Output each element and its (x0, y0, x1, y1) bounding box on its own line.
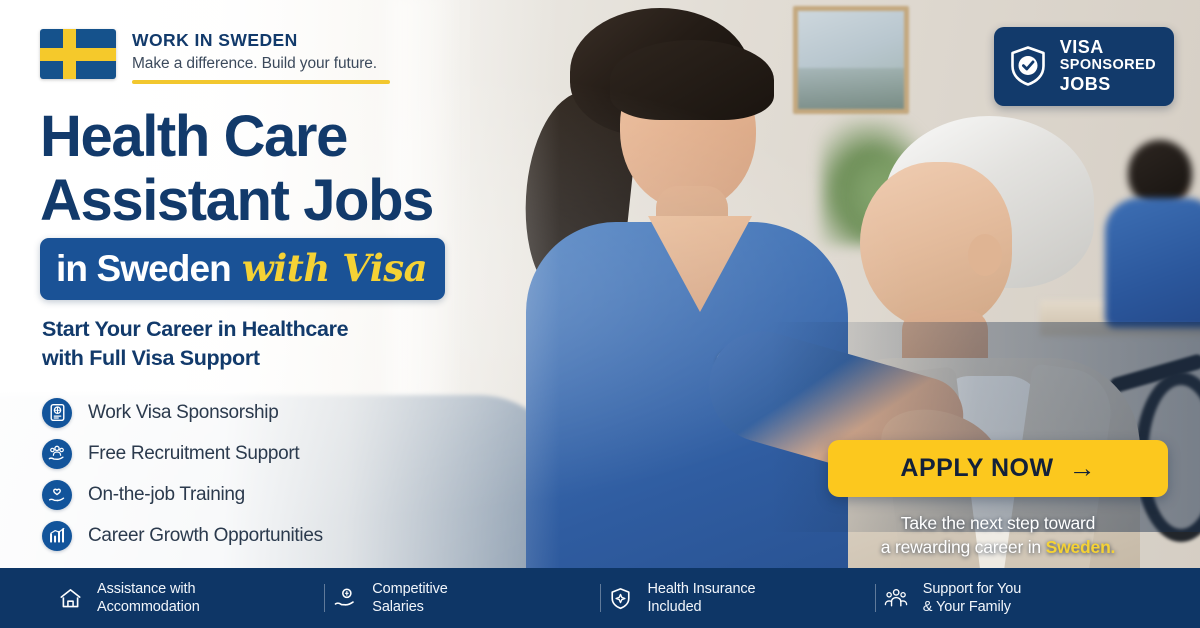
job-ad-banner: WORK IN SWEDEN Make a difference. Build … (0, 0, 1200, 628)
cta-subtext-line-2-pre: a rewarding career in (881, 537, 1046, 557)
apply-now-button[interactable]: APPLY NOW → (828, 440, 1168, 497)
footer-item-line-2: Accommodation (97, 599, 200, 615)
hand-coin-icon (331, 584, 359, 612)
subheadline-line-1: Start Your Career in Healthcare (42, 315, 348, 344)
feature-label: On-the-job Training (88, 484, 245, 506)
visa-badge-line1: VISA (1060, 38, 1156, 57)
brand-underline (132, 80, 390, 84)
hand-people-icon (42, 439, 72, 469)
brand-text: WORK IN SWEDEN Make a difference. Build … (132, 29, 390, 84)
footer-item-line-2: Included (648, 599, 702, 615)
cta-subtext-line-1: Take the next step toward (828, 512, 1168, 536)
headline-line-2: Assistant Jobs (40, 170, 433, 232)
footer-item-line-1: Health Insurance (648, 581, 756, 597)
visa-badge-line3: JOBS (1060, 75, 1156, 94)
benefits-footer: Assistance with Accommodation (0, 568, 1200, 628)
footer-item: Support for You & Your Family (882, 580, 1144, 617)
footer-divider (875, 584, 876, 612)
footer-items: Assistance with Accommodation (0, 580, 1200, 617)
cta-subtext-highlight: Sweden. (1046, 537, 1116, 557)
feature-item: Career Growth Opportunities (42, 515, 323, 556)
footer-item-text: Competitive Salaries (372, 580, 447, 617)
feature-item: Free Recruitment Support (42, 433, 323, 474)
footer-item-text: Support for You & Your Family (923, 580, 1021, 617)
shield-health-icon (607, 584, 635, 612)
headline: Health Care Assistant Jobs (40, 106, 433, 232)
cta-subtext: Take the next step toward a rewarding ca… (828, 512, 1168, 560)
growth-chart-icon (42, 521, 72, 551)
cta-section: APPLY NOW → Take the next step toward a … (828, 440, 1168, 560)
footer-item: Competitive Salaries (331, 580, 593, 617)
pill-script-text: with Visa (242, 246, 427, 290)
feature-label: Work Visa Sponsorship (88, 402, 278, 424)
brand-tagline: Make a difference. Build your future. (132, 55, 390, 73)
hand-heart-icon (42, 480, 72, 510)
footer-item-line-1: Support for You (923, 581, 1021, 597)
swedish-flag-icon (40, 29, 116, 79)
feature-label: Career Growth Opportunities (88, 525, 323, 547)
brand-lockup: WORK IN SWEDEN Make a difference. Build … (40, 29, 390, 84)
subheadline: Start Your Career in Healthcare with Ful… (42, 315, 348, 372)
apply-now-label: APPLY NOW (900, 454, 1053, 483)
footer-item-line-1: Competitive (372, 581, 447, 597)
cta-subtext-line-2: a rewarding career in Sweden. (828, 536, 1168, 560)
visa-badge-text: VISA SPONSORED JOBS (1060, 38, 1156, 94)
footer-divider (324, 584, 325, 612)
pill-plain-text: in Sweden (56, 248, 231, 290)
footer-divider (600, 584, 601, 612)
headline-pill: in Sweden with Visa (40, 238, 445, 300)
footer-item: Assistance with Accommodation (56, 580, 318, 617)
footer-item-line-2: & Your Family (923, 599, 1011, 615)
family-group-icon (882, 584, 910, 612)
headline-line-1: Health Care (40, 106, 433, 168)
passport-icon (42, 398, 72, 428)
footer-item-line-2: Salaries (372, 599, 424, 615)
subheadline-line-2: with Full Visa Support (42, 344, 348, 373)
feature-item: On-the-job Training (42, 474, 323, 515)
feature-list: Work Visa Sponsorship Free Recruitment S… (42, 392, 323, 556)
feature-label: Free Recruitment Support (88, 443, 299, 465)
visa-sponsored-badge: VISA SPONSORED JOBS (994, 27, 1174, 106)
home-icon (56, 584, 84, 612)
arrow-right-icon: → (1069, 455, 1096, 482)
feature-item: Work Visa Sponsorship (42, 392, 323, 433)
footer-item-text: Health Insurance Included (648, 580, 756, 617)
banner-content: WORK IN SWEDEN Make a difference. Build … (0, 0, 1200, 628)
brand-title: WORK IN SWEDEN (132, 31, 390, 50)
footer-item-text: Assistance with Accommodation (97, 580, 200, 617)
footer-item: Health Insurance Included (607, 580, 869, 617)
visa-badge-line2: SPONSORED (1060, 58, 1156, 74)
footer-item-line-1: Assistance with (97, 581, 195, 597)
shield-check-icon (1009, 45, 1047, 87)
